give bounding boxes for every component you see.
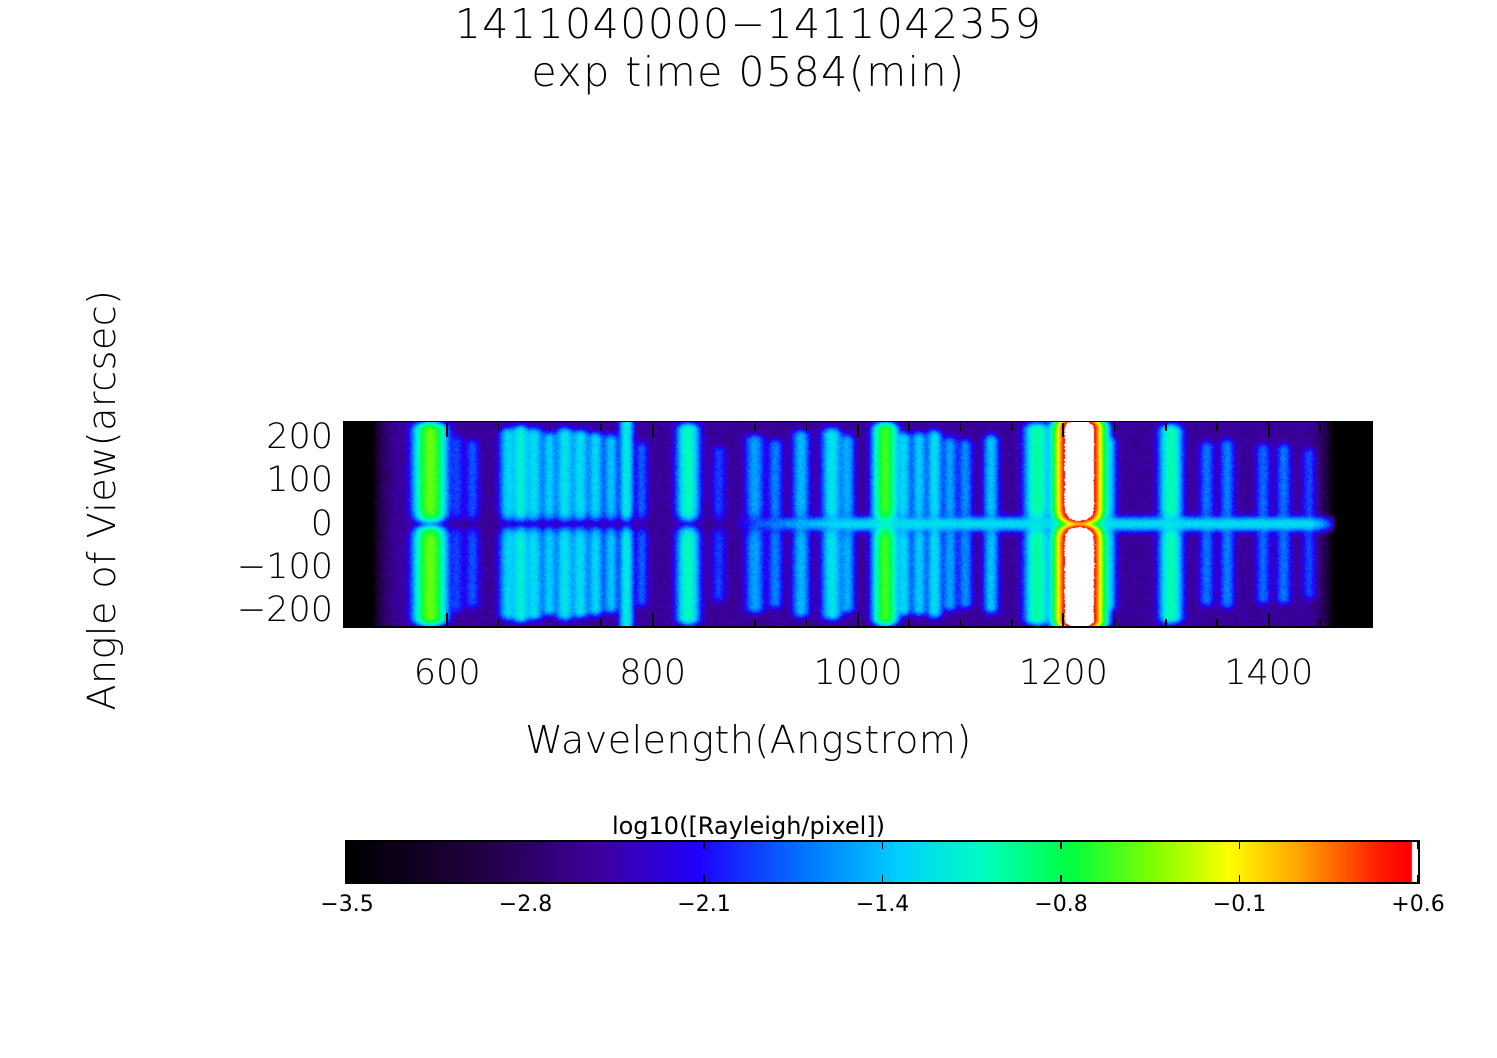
- y-axis-minor-tick: [345, 585, 353, 587]
- x-axis-major-tick: [652, 613, 654, 627]
- colorbar-tick: [346, 875, 348, 882]
- x-axis-major-tick: [1268, 423, 1270, 437]
- x-axis-minor-tick: [1216, 619, 1218, 627]
- y-axis-tick-label: −100: [213, 550, 333, 585]
- colorbar-tick: [1060, 842, 1062, 849]
- y-axis-minor-tick: [345, 446, 353, 448]
- y-axis-tick-label: 100: [213, 463, 333, 498]
- colorbar-tick: [703, 842, 705, 849]
- y-axis-minor-tick: [345, 550, 353, 552]
- x-axis-major-tick: [1062, 613, 1064, 627]
- y-axis-minor-tick: [1364, 541, 1372, 543]
- x-axis-minor-tick: [498, 619, 500, 627]
- y-axis-major-tick: [345, 480, 359, 482]
- colorbar-tick: [525, 842, 527, 849]
- x-axis-minor-tick: [806, 423, 808, 431]
- y-axis-minor-tick: [1364, 463, 1372, 465]
- y-axis-minor-tick: [1364, 429, 1372, 431]
- y-axis-minor-tick: [345, 541, 353, 543]
- colorbar-tick-label: −0.8: [1001, 894, 1121, 916]
- colorbar-tick: [882, 842, 884, 849]
- x-axis-minor-tick: [1216, 423, 1218, 431]
- y-axis-minor-tick: [345, 515, 353, 517]
- colorbar-tick: [1239, 875, 1241, 882]
- x-axis-minor-tick: [908, 423, 910, 431]
- x-axis-minor-tick: [549, 423, 551, 431]
- y-axis-minor-tick: [1364, 559, 1372, 561]
- colorbar-tick: [1417, 875, 1419, 882]
- x-axis-minor-tick: [754, 423, 756, 431]
- colorbar-title: log10([Rayleigh/pixel]): [0, 812, 1497, 840]
- title-exposure-time: exp time 0584(min): [0, 48, 1497, 96]
- y-axis-minor-tick: [345, 489, 353, 491]
- x-axis-minor-tick: [1165, 423, 1167, 431]
- x-axis-tick-label: 1000: [778, 656, 938, 691]
- y-axis-minor-tick: [345, 576, 353, 578]
- y-axis-minor-tick: [1364, 533, 1372, 535]
- x-axis-minor-tick: [1319, 423, 1321, 431]
- x-axis-major-tick: [857, 613, 859, 627]
- y-axis-title: Angle of View(arcsec): [80, 260, 124, 740]
- y-axis-major-tick: [1358, 567, 1372, 569]
- x-axis-minor-tick: [806, 619, 808, 627]
- colorbar-tick-label: −2.8: [466, 894, 586, 916]
- y-axis-major-tick: [345, 567, 359, 569]
- x-axis-minor-tick: [1114, 619, 1116, 627]
- colorbar-tick: [882, 875, 884, 882]
- x-axis-minor-tick: [1011, 619, 1013, 627]
- x-axis-minor-tick: [703, 423, 705, 431]
- x-axis-tick-label: 800: [573, 656, 733, 691]
- x-axis-tick-label: 1400: [1189, 656, 1349, 691]
- y-axis-major-tick: [1358, 524, 1372, 526]
- y-axis-minor-tick: [345, 559, 353, 561]
- x-axis-minor-tick: [960, 619, 962, 627]
- x-axis-title: Wavelength(Angstrom): [0, 718, 1497, 762]
- x-axis-major-tick: [652, 423, 654, 437]
- y-axis-minor-tick: [345, 472, 353, 474]
- y-axis-minor-tick: [1364, 472, 1372, 474]
- y-axis-minor-tick: [1364, 498, 1372, 500]
- y-axis-tick-label: −200: [213, 593, 333, 628]
- x-axis-minor-tick: [395, 423, 397, 431]
- colorbar-tick-label: −3.5: [287, 894, 407, 916]
- x-axis-minor-tick: [960, 423, 962, 431]
- y-axis-minor-tick: [345, 463, 353, 465]
- y-axis-minor-tick: [1364, 602, 1372, 604]
- y-axis-major-tick: [1358, 480, 1372, 482]
- x-axis-minor-tick: [703, 619, 705, 627]
- colorbar-tick-label: −2.1: [644, 894, 764, 916]
- x-axis-major-tick: [1268, 613, 1270, 627]
- x-axis-major-tick: [857, 423, 859, 437]
- y-axis-minor-tick: [345, 498, 353, 500]
- x-axis-minor-tick: [908, 619, 910, 627]
- y-axis-minor-tick: [345, 507, 353, 509]
- y-axis-minor-tick: [345, 533, 353, 535]
- x-axis-minor-tick: [549, 619, 551, 627]
- y-axis-minor-tick: [1364, 576, 1372, 578]
- colorbar-tick: [1239, 842, 1241, 849]
- y-axis-minor-tick: [1364, 455, 1372, 457]
- y-axis-minor-tick: [345, 619, 353, 621]
- x-axis-minor-tick: [754, 619, 756, 627]
- x-axis-tick-label: 600: [367, 656, 527, 691]
- y-axis-major-tick: [345, 437, 359, 439]
- y-axis-minor-tick: [1364, 446, 1372, 448]
- y-axis-minor-tick: [345, 455, 353, 457]
- x-axis-minor-tick: [1011, 423, 1013, 431]
- spectrogram-plot-area: [343, 421, 1373, 628]
- x-axis-major-tick: [446, 423, 448, 437]
- colorbar-tick-label: −1.4: [823, 894, 943, 916]
- x-axis-minor-tick: [600, 423, 602, 431]
- colorbar-tick: [346, 842, 348, 849]
- x-axis-minor-tick: [600, 619, 602, 627]
- y-axis-minor-tick: [1364, 507, 1372, 509]
- colorbar-tick: [1060, 875, 1062, 882]
- colorbar-tick: [703, 875, 705, 882]
- y-axis-major-tick: [1358, 610, 1372, 612]
- y-axis-minor-tick: [1364, 489, 1372, 491]
- chart-title: 1411040000−1411042359 exp time 0584(min): [0, 0, 1497, 96]
- x-axis-minor-tick: [1165, 619, 1167, 627]
- x-axis-minor-tick: [1319, 619, 1321, 627]
- y-axis-minor-tick: [345, 602, 353, 604]
- title-observation-id: 1411040000−1411042359: [0, 0, 1497, 48]
- x-axis-minor-tick: [1114, 423, 1116, 431]
- y-axis-minor-tick: [1364, 593, 1372, 595]
- y-axis-minor-tick: [1364, 550, 1372, 552]
- x-axis-minor-tick: [395, 619, 397, 627]
- x-axis-major-tick: [446, 613, 448, 627]
- x-axis-major-tick: [1062, 423, 1064, 437]
- y-axis-tick-label: 200: [213, 420, 333, 455]
- colorbar-tick: [525, 875, 527, 882]
- y-axis-minor-tick: [345, 593, 353, 595]
- y-axis-major-tick: [1358, 437, 1372, 439]
- y-axis-major-tick: [345, 610, 359, 612]
- colorbar-tick: [1417, 842, 1419, 849]
- y-axis-minor-tick: [345, 429, 353, 431]
- spectrogram-image: [344, 422, 1371, 626]
- colorbar-tick-label: −0.1: [1180, 894, 1300, 916]
- y-axis-minor-tick: [1364, 619, 1372, 621]
- y-axis-minor-tick: [1364, 515, 1372, 517]
- y-axis-minor-tick: [1364, 585, 1372, 587]
- x-axis-minor-tick: [498, 423, 500, 431]
- x-axis-tick-label: 1200: [983, 656, 1143, 691]
- colorbar-tick-label: +0.6: [1358, 894, 1478, 916]
- y-axis-major-tick: [345, 524, 359, 526]
- y-axis-tick-label: 0: [213, 507, 333, 542]
